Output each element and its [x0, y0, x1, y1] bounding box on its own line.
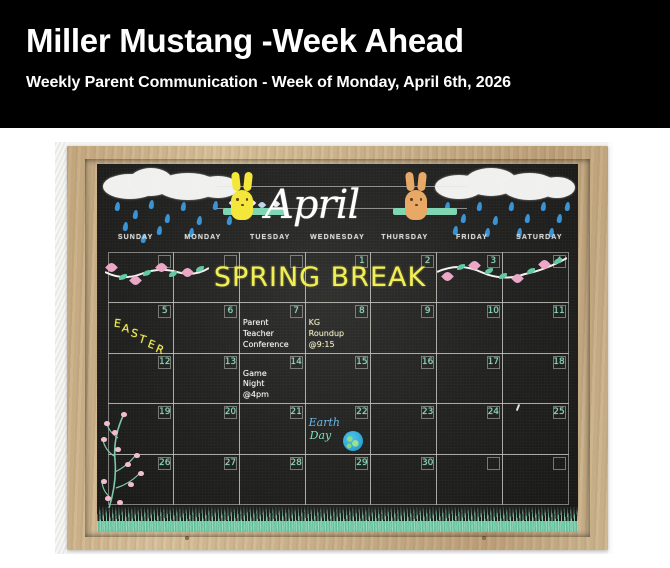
- calendar-cell: 13: [173, 353, 240, 405]
- day-number-box: 11: [553, 305, 566, 318]
- calendar-cell: 22EarthDay: [305, 403, 372, 455]
- chalkboard-calendar-photo: April SUNDAY MONDAY TUESDAY WEDNESDAY TH…: [55, 142, 613, 554]
- seasonal-art-band: April: [97, 164, 578, 240]
- orange-bunny-peep-icon: [399, 172, 433, 220]
- day-number-box-empty: [158, 255, 171, 268]
- raindrop-icon: [508, 202, 514, 212]
- event-line: @9:15: [309, 340, 369, 351]
- calendar-cell: 11: [502, 302, 569, 354]
- event-line: Parent: [243, 318, 303, 329]
- calendar-cell: 27: [173, 454, 240, 506]
- event-line: Roundup: [309, 329, 369, 340]
- day-number-box: 27: [224, 457, 237, 470]
- calendar-cell: 10: [436, 302, 503, 354]
- calendar-cell: 20: [173, 403, 240, 455]
- raindrop-icon: [132, 210, 138, 220]
- easter-letter: T: [137, 332, 147, 346]
- spring-break-banner: SPRING BREAK: [205, 262, 435, 293]
- calendar-cell: [436, 454, 503, 506]
- raindrop-icon: [180, 202, 186, 212]
- day-number-box: 22: [355, 406, 368, 419]
- raindrop-icon: [122, 222, 128, 232]
- day-number: 10: [488, 307, 499, 316]
- page-title: Miller Mustang -Week Ahead: [26, 22, 644, 60]
- day-number-box: 7: [290, 305, 303, 318]
- day-number-box: 3: [487, 255, 500, 268]
- event-line: Night: [243, 379, 303, 390]
- day-number: 24: [488, 408, 499, 417]
- bunny-nose: [415, 204, 418, 206]
- dow-friday: FRIDAY: [438, 234, 505, 250]
- day-number: 8: [359, 307, 365, 316]
- day-number: 16: [422, 358, 433, 367]
- calendar-cell: 25: [502, 403, 569, 455]
- day-number-box: 30: [421, 457, 434, 470]
- day-number-box: 28: [290, 457, 303, 470]
- cloud-icon: [539, 177, 575, 198]
- day-number: 29: [356, 459, 367, 468]
- raindrop-icon: [114, 202, 120, 212]
- day-number: 13: [225, 358, 236, 367]
- calendar-cell: 12: [108, 353, 175, 405]
- bunny-ear: [417, 172, 427, 192]
- day-number-box: 17: [487, 356, 500, 369]
- blossom-bud: [101, 479, 107, 484]
- day-number: 28: [290, 459, 301, 468]
- day-number: 18: [553, 358, 564, 367]
- day-number: 7: [293, 307, 299, 316]
- page-root: Miller Mustang -Week Ahead Weekly Parent…: [0, 0, 670, 568]
- day-number-box: 9: [421, 305, 434, 318]
- chalkboard-surface: April SUNDAY MONDAY TUESDAY WEDNESDAY TH…: [97, 164, 578, 532]
- frame-screw-icon: [185, 536, 189, 540]
- raindrop-icon: [460, 214, 466, 224]
- day-number: 12: [159, 358, 170, 367]
- calendar-cell: 15: [305, 353, 372, 405]
- day-number-box: 19: [158, 406, 171, 419]
- event-line: @4pm: [243, 390, 303, 401]
- day-number-box: 20: [224, 406, 237, 419]
- easter-letter: A: [121, 322, 131, 336]
- day-number: 25: [553, 408, 564, 417]
- raindrop-icon: [492, 216, 498, 226]
- day-number-box: 25: [553, 406, 566, 419]
- calendar-cell: 18: [502, 353, 569, 405]
- calendar-cell: 29: [305, 454, 372, 506]
- bunny-nose: [241, 204, 244, 206]
- raindrop-icon: [476, 202, 482, 212]
- event-line: Teacher: [243, 329, 303, 340]
- day-number-box: 26: [158, 457, 171, 470]
- day-number-box: 10: [487, 305, 500, 318]
- raindrop-icon: [540, 202, 546, 212]
- calendar-cell: 5EASTER: [108, 302, 175, 354]
- calendar-cell: 8KGRoundup@9:15: [305, 302, 372, 354]
- day-number-box: 6: [224, 305, 237, 318]
- day-number-box: 13: [224, 356, 237, 369]
- day-number-box-empty: [553, 457, 566, 470]
- dow-wednesday: WEDNESDAY: [304, 234, 371, 250]
- frame-screw-icon: [482, 536, 486, 540]
- event-line: KG: [309, 318, 369, 329]
- calendar-event-text: KGRoundup@9:15: [309, 318, 369, 350]
- day-number-box: 21: [290, 406, 303, 419]
- calendar-cell: 30: [370, 454, 437, 506]
- raindrop-icon: [196, 216, 202, 226]
- day-number: 20: [225, 408, 236, 417]
- day-number: 11: [553, 307, 564, 316]
- dow-sunday: SUNDAY: [102, 234, 169, 250]
- day-number: 4: [556, 257, 562, 266]
- day-number-box: 5: [158, 305, 171, 318]
- day-number-box: 4: [553, 255, 566, 268]
- event-line: Game: [243, 369, 303, 380]
- blossom-bud: [101, 437, 107, 442]
- dow-tuesday: TUESDAY: [237, 234, 304, 250]
- day-number: 15: [356, 358, 367, 367]
- day-number: 17: [488, 358, 499, 367]
- dow-thursday: THURSDAY: [371, 234, 438, 250]
- day-number: 9: [425, 307, 431, 316]
- bunny-ear: [231, 172, 241, 192]
- bunny-eye: [410, 198, 413, 201]
- bunny-ear: [405, 172, 415, 192]
- calendar-cell: 16: [370, 353, 437, 405]
- day-number-box: 29: [355, 457, 368, 470]
- calendar-cell: 28: [239, 454, 306, 506]
- calendar-cell: 4: [502, 252, 569, 304]
- bunny-eye: [420, 198, 423, 201]
- raindrop-icon: [564, 202, 570, 212]
- day-number-box: 8: [355, 305, 368, 318]
- bunny-eye: [236, 198, 239, 201]
- day-number: 30: [422, 459, 433, 468]
- raindrop-icon: [524, 214, 530, 224]
- bunny-eye: [246, 198, 249, 201]
- day-of-week-header-row: SUNDAY MONDAY TUESDAY WEDNESDAY THURSDAY…: [102, 234, 573, 250]
- day-number-box: 24: [487, 406, 500, 419]
- day-number: 27: [225, 459, 236, 468]
- calendar-cell: [502, 454, 569, 506]
- day-number-box: 18: [553, 356, 566, 369]
- event-line: Conference: [243, 340, 303, 351]
- calendar-cell: 19: [108, 403, 175, 455]
- day-number: 19: [159, 408, 170, 417]
- calendar-cell: 21: [239, 403, 306, 455]
- raindrop-icon: [148, 200, 154, 210]
- raindrop-icon: [556, 214, 562, 224]
- earth-globe-icon: [343, 431, 363, 451]
- bunny-ear: [243, 172, 253, 192]
- day-number: 26: [159, 459, 170, 468]
- calendar-cell: 3: [436, 252, 503, 304]
- earth-day-line2: Day: [310, 430, 340, 443]
- page-subtitle: Weekly Parent Communication - Week of Mo…: [26, 74, 644, 92]
- day-number-box: 16: [421, 356, 434, 369]
- day-number: 6: [228, 307, 234, 316]
- calendar-cell: 23: [370, 403, 437, 455]
- bunny-body: [231, 190, 253, 220]
- page-header: Miller Mustang -Week Ahead Weekly Parent…: [0, 0, 670, 128]
- easter-letter: E: [113, 317, 122, 331]
- calendar-cell: 24: [436, 403, 503, 455]
- day-number-box: 23: [421, 406, 434, 419]
- calendar-cell: 26: [108, 454, 175, 506]
- day-number-box: 12: [158, 356, 171, 369]
- day-number-box: 14: [290, 356, 303, 369]
- raindrop-icon: [164, 214, 170, 224]
- bunny-body: [405, 190, 427, 220]
- calendar-cell: 17: [436, 353, 503, 405]
- calendar-cell: 9: [370, 302, 437, 354]
- earth-day-label: EarthDay: [309, 417, 340, 442]
- dow-monday: MONDAY: [169, 234, 236, 250]
- day-number: 5: [162, 307, 168, 316]
- calendar-cell: [108, 252, 175, 304]
- calendar-cell: 14GameNight@4pm: [239, 353, 306, 405]
- wall-texture-left: [55, 142, 67, 554]
- easter-letter: S: [129, 327, 139, 341]
- month-label: April: [265, 182, 359, 228]
- day-number: 14: [290, 358, 301, 367]
- day-number-box-empty: [487, 457, 500, 470]
- day-number-box: 15: [355, 356, 368, 369]
- yellow-bunny-peep-icon: [225, 172, 259, 220]
- grass-border-base: [97, 521, 578, 532]
- day-number: 22: [356, 408, 367, 417]
- day-number: 3: [490, 257, 496, 266]
- day-number: 21: [290, 408, 301, 417]
- calendar-event-text: GameNight@4pm: [243, 369, 303, 401]
- calendar-cell: 6: [173, 302, 240, 354]
- calendar-cell: 7ParentTeacherConference: [239, 302, 306, 354]
- day-number: 23: [422, 408, 433, 417]
- calendar-event-text: ParentTeacherConference: [243, 318, 303, 350]
- dow-saturday: SATURDAY: [506, 234, 573, 250]
- wall-texture-right: [608, 142, 613, 554]
